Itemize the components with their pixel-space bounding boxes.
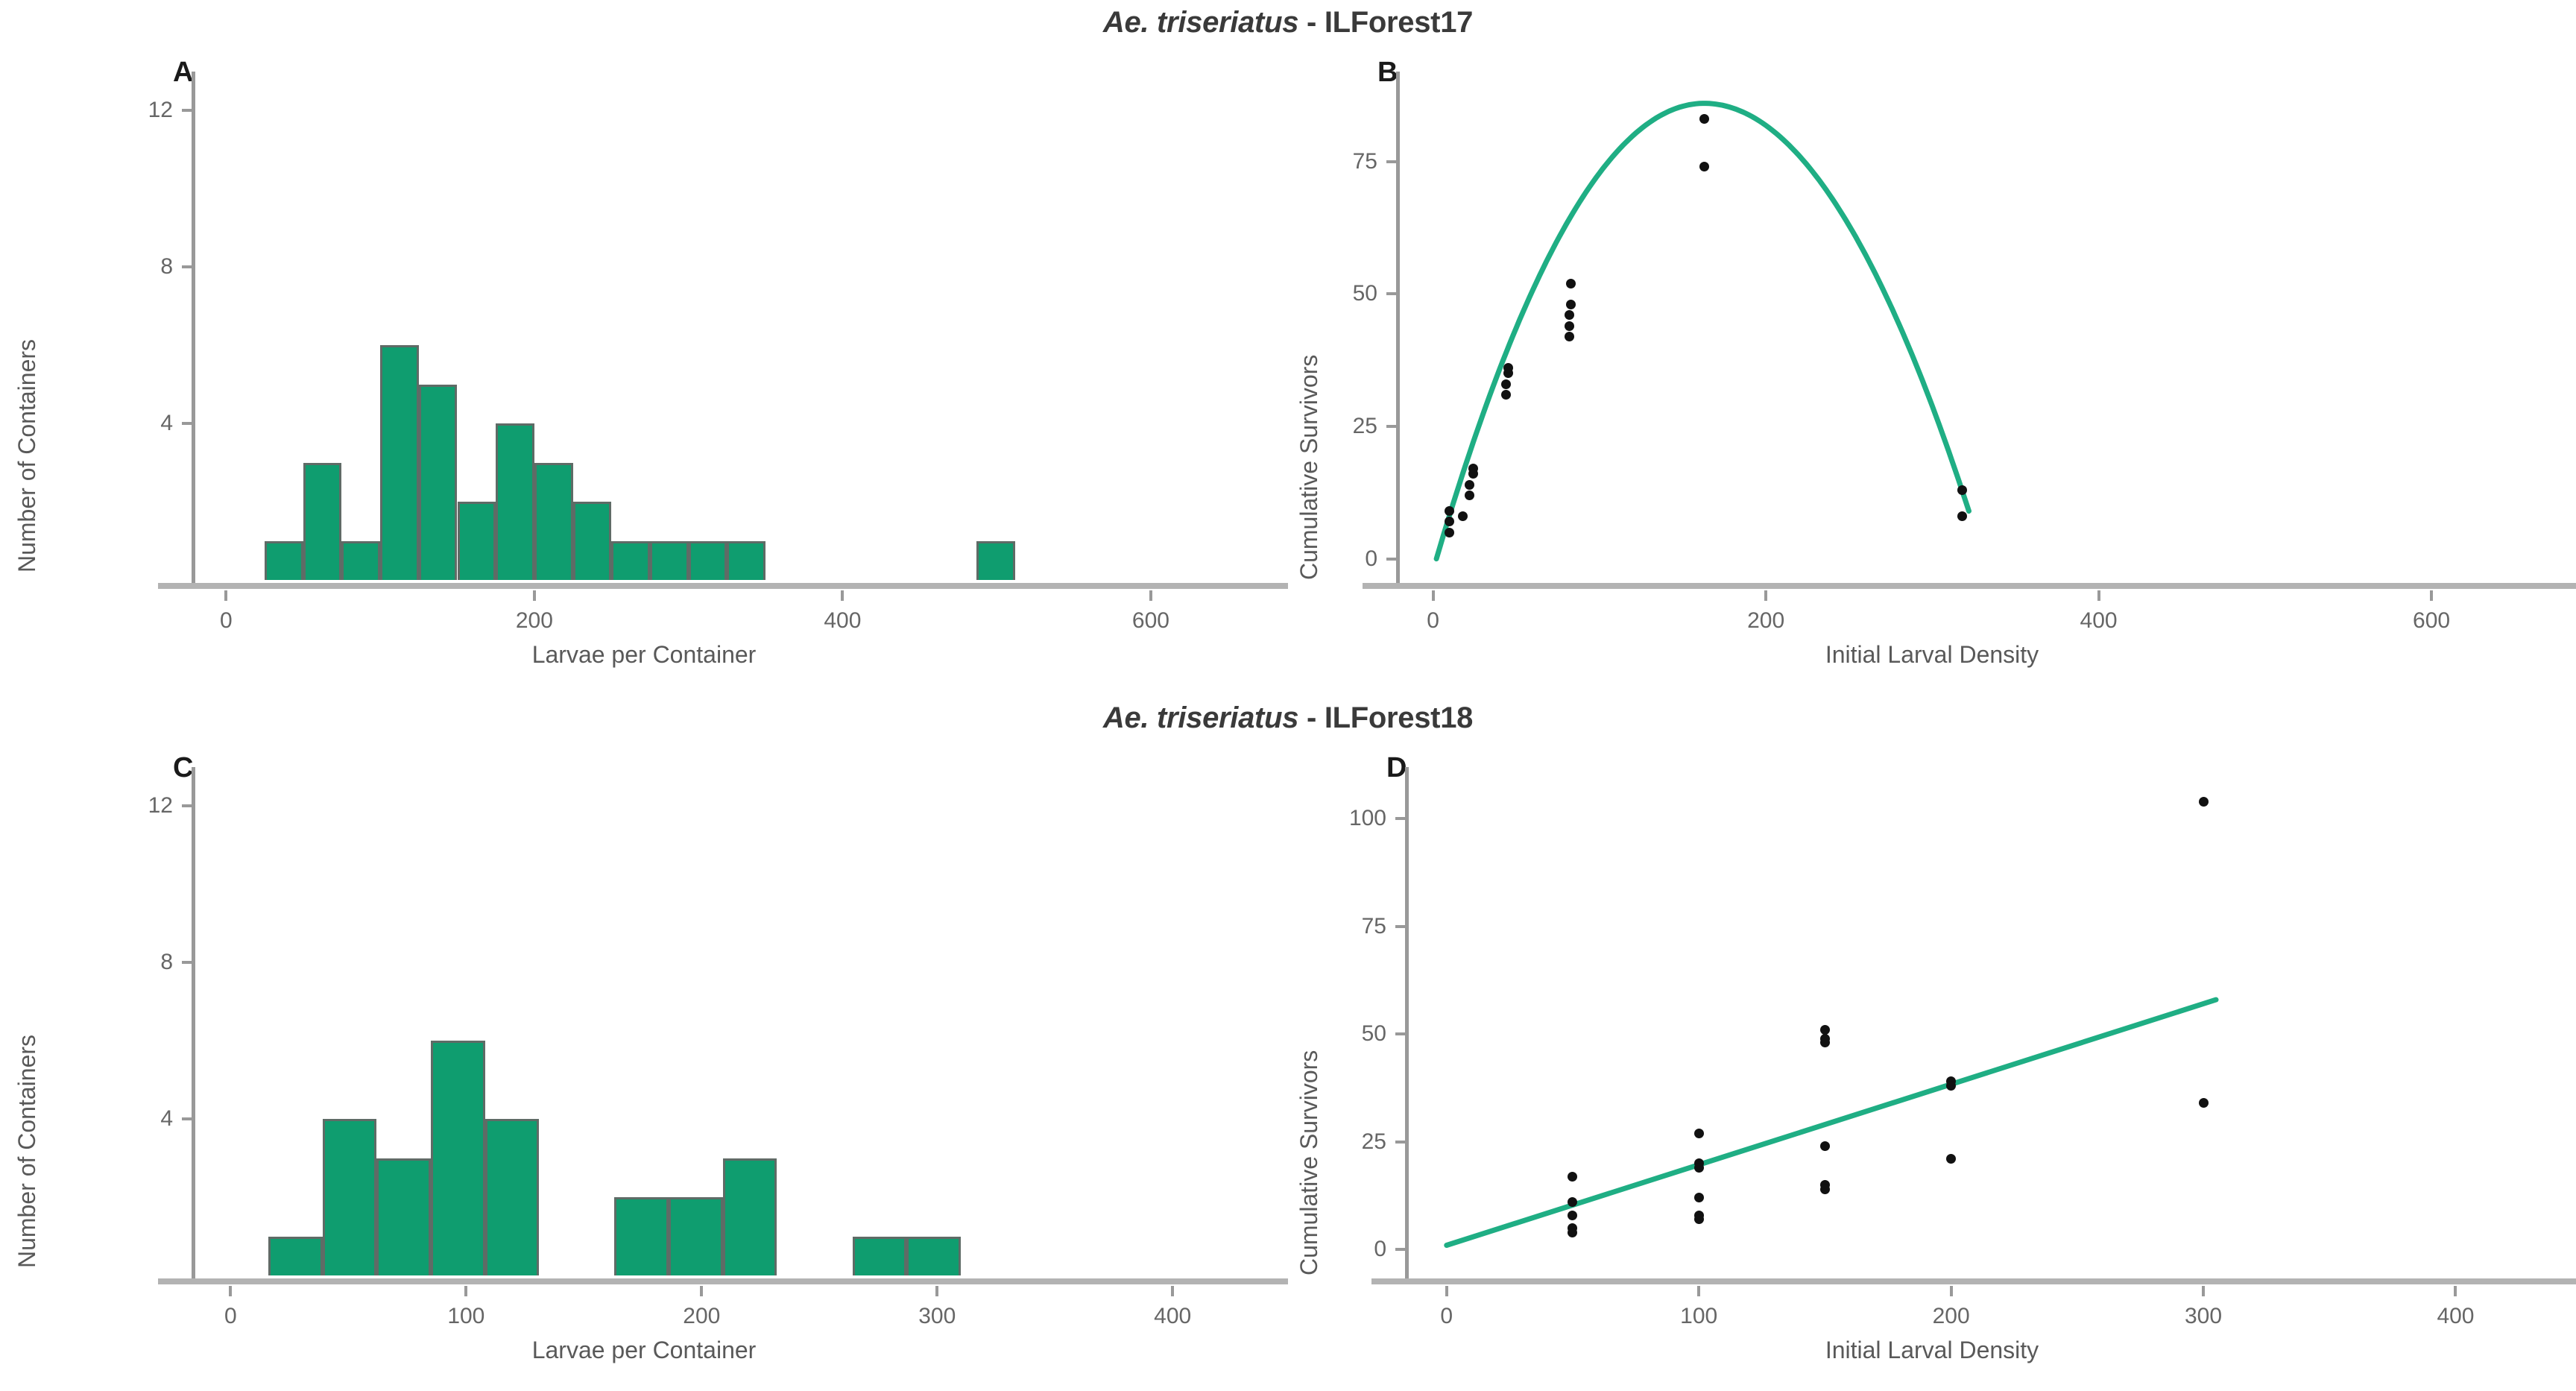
b-y-tick-label: 25 [1303,414,1377,439]
data-point [1445,517,1454,526]
species-name-top: Ae. triseriatus [1103,6,1298,39]
data-point [1699,162,1709,171]
b-y-tick [1386,425,1397,428]
b-x-tick-label: 600 [2413,608,2450,634]
histogram-bar [496,423,534,580]
data-point [1957,485,1967,495]
figure-row-bottom: Ae. triseriatus - ILForest18 C Number of… [0,695,2576,1391]
b-y-tick [1386,160,1397,163]
data-point [1468,464,1478,473]
histogram-bar [689,541,727,580]
data-point [1458,511,1468,521]
panel-title-top: Ae. triseriatus - ILForest17 [0,6,2576,40]
d-y-tick [1395,1248,1406,1251]
c-x-tick [464,1286,467,1296]
data-point [1568,1211,1577,1220]
d-y-tick-label: 25 [1312,1129,1386,1155]
b-x-tick [2430,590,2433,601]
a-x-tick [841,590,844,601]
panel-c-letter: C [173,752,193,784]
data-point [1820,1185,1830,1194]
histogram-bar [573,502,612,580]
b-y-axis-line [1396,72,1400,584]
data-point [1568,1172,1577,1182]
data-point [1445,528,1454,537]
c-y-tick [182,804,192,807]
d-y-tick-label: 0 [1312,1237,1386,1262]
a-y-tick [182,422,192,425]
data-point [1946,1154,1956,1164]
data-point [1565,310,1574,320]
data-point [2199,797,2209,807]
data-point [1820,1038,1830,1047]
b-x-tick-label: 200 [1747,608,1784,634]
panel-b-x-axis-title: Initial Larval Density [1288,641,2576,669]
data-point [1465,491,1474,500]
data-point [1820,1141,1830,1151]
b-fit-curve [1288,58,2576,695]
data-point [1565,321,1574,331]
data-point [1694,1163,1704,1173]
d-x-axis-line [1371,1278,2576,1284]
d-x-tick-label: 100 [1680,1304,1717,1329]
histogram-bar [723,1158,777,1275]
histogram-bar [341,541,380,580]
histogram-bar [853,1237,907,1275]
data-point [1566,279,1576,288]
histogram-bar [268,1237,323,1275]
b-x-axis-line [1363,583,2576,589]
histogram-bar [380,345,419,580]
c-x-tick [700,1286,703,1296]
d-x-tick-label: 0 [1440,1304,1453,1329]
b-y-tick [1386,292,1397,295]
a-y-tick [182,265,192,268]
c-y-tick [182,1117,192,1120]
c-x-tick-label: 0 [224,1304,237,1329]
a-x-axis-line [158,583,1288,589]
a-x-tick [1149,590,1152,601]
panel-b-scatter: B Cumulative Survivors Initial Larval De… [1288,58,2576,695]
panel-c-x-axis-title: Larvae per Container [0,1337,1288,1364]
data-point [1501,379,1511,389]
d-y-tick [1395,1141,1406,1144]
a-y-tick-label: 4 [98,411,173,436]
panel-title-bottom: Ae. triseriatus - ILForest18 [0,701,2576,735]
d-x-tick [1445,1286,1448,1296]
a-y-tick-label: 12 [98,98,173,123]
panel-c-histogram: C Number of Containers Larvae per Contai… [0,754,1288,1391]
panel-a-histogram: A Number of Containers Larvae per Contai… [0,58,1288,695]
data-point [1568,1228,1577,1237]
d-x-tick [1950,1286,1953,1296]
d-y-tick-label: 50 [1312,1021,1386,1047]
a-x-tick-label: 200 [516,608,553,634]
data-point [2199,1098,2209,1108]
data-point [1694,1129,1704,1138]
title-separator-top: - [1298,6,1325,39]
data-point [1565,332,1574,341]
panel-c-y-axis-title: Number of Containers [13,1035,41,1268]
data-point [1699,114,1709,124]
d-x-tick-label: 300 [2185,1304,2222,1329]
histogram-bar [303,463,342,580]
panel-d-letter: D [1386,752,1407,784]
c-y-tick-label: 8 [98,950,173,975]
histogram-bar [727,541,765,580]
histogram-bar [323,1119,377,1275]
histogram-bar [265,541,303,580]
c-y-axis-line [192,767,195,1280]
d-fit-curve [1288,754,2576,1391]
a-x-tick-label: 400 [824,608,861,634]
d-x-tick-label: 200 [1933,1304,1970,1329]
data-point [1501,390,1511,400]
histogram-bar [458,502,496,580]
histogram-bar [650,541,689,580]
c-y-tick-label: 12 [98,793,173,818]
c-y-tick-label: 4 [98,1106,173,1132]
d-y-tick-label: 75 [1312,914,1386,939]
d-y-tick-label: 100 [1312,806,1386,831]
histogram-bar [534,463,573,580]
panel-a-x-axis-title: Larvae per Container [0,641,1288,669]
site-name-bottom: ILForest18 [1325,701,1473,734]
d-x-tick-label: 400 [2437,1304,2474,1329]
b-x-tick [1432,590,1435,601]
c-x-tick-label: 400 [1154,1304,1191,1329]
data-point [1445,506,1454,516]
c-y-tick [182,961,192,964]
a-y-tick [182,109,192,112]
b-y-tick-label: 50 [1303,281,1377,306]
d-y-tick [1395,925,1406,928]
c-x-tick-label: 300 [918,1304,956,1329]
d-x-tick [2202,1286,2205,1296]
b-y-tick-label: 75 [1303,149,1377,174]
c-x-tick [935,1286,938,1296]
d-y-axis-line [1405,767,1409,1280]
title-separator-bottom: - [1298,701,1325,734]
data-point [1957,511,1967,521]
histogram-bar [611,541,650,580]
b-y-tick [1386,558,1397,561]
data-point [1694,1193,1704,1202]
panel-b-letter: B [1377,57,1398,89]
d-x-tick [2454,1286,2457,1296]
c-x-axis-line [158,1278,1288,1284]
panel-a-y-axis-title: Number of Containers [13,339,41,573]
a-x-tick [533,590,536,601]
figure-canvas: Ae. triseriatus - ILForest17 A Number of… [0,0,2576,1391]
figure-row-top: Ae. triseriatus - ILForest17 A Number of… [0,0,2576,695]
b-x-tick-label: 400 [2080,608,2118,634]
a-x-tick-label: 600 [1132,608,1169,634]
b-x-tick [1764,590,1767,601]
data-point [1566,300,1576,309]
a-x-tick [224,590,227,601]
histogram-bar [376,1158,431,1275]
data-point [1465,480,1474,490]
panel-a-letter: A [173,57,193,89]
d-y-tick [1395,1032,1406,1035]
histogram-bar [906,1237,961,1275]
histogram-bar [614,1197,669,1275]
c-x-tick-label: 100 [447,1304,484,1329]
c-x-tick-label: 200 [683,1304,720,1329]
panel-d-x-axis-title: Initial Larval Density [1288,1337,2576,1364]
b-x-tick-label: 0 [1427,608,1439,634]
histogram-bar [419,385,458,580]
c-x-tick [229,1286,232,1296]
a-x-tick-label: 0 [220,608,233,634]
panel-d-scatter: D Cumulative Survivors Initial Larval De… [1288,754,2576,1391]
species-name-bottom: Ae. triseriatus [1103,701,1298,734]
b-x-tick [2097,590,2100,601]
data-point [1694,1214,1704,1224]
site-name-top: ILForest17 [1325,6,1473,39]
histogram-bar [431,1041,485,1275]
a-y-tick-label: 8 [98,254,173,280]
a-y-axis-line [192,72,195,584]
histogram-bar [669,1197,723,1275]
histogram-bar [485,1119,540,1275]
d-x-tick [1697,1286,1700,1296]
data-point [1568,1197,1577,1207]
data-point [1946,1081,1956,1091]
b-y-tick-label: 0 [1303,546,1377,572]
d-y-tick [1395,817,1406,820]
c-x-tick [1171,1286,1174,1296]
histogram-bar [976,541,1015,580]
data-point [1503,363,1513,373]
